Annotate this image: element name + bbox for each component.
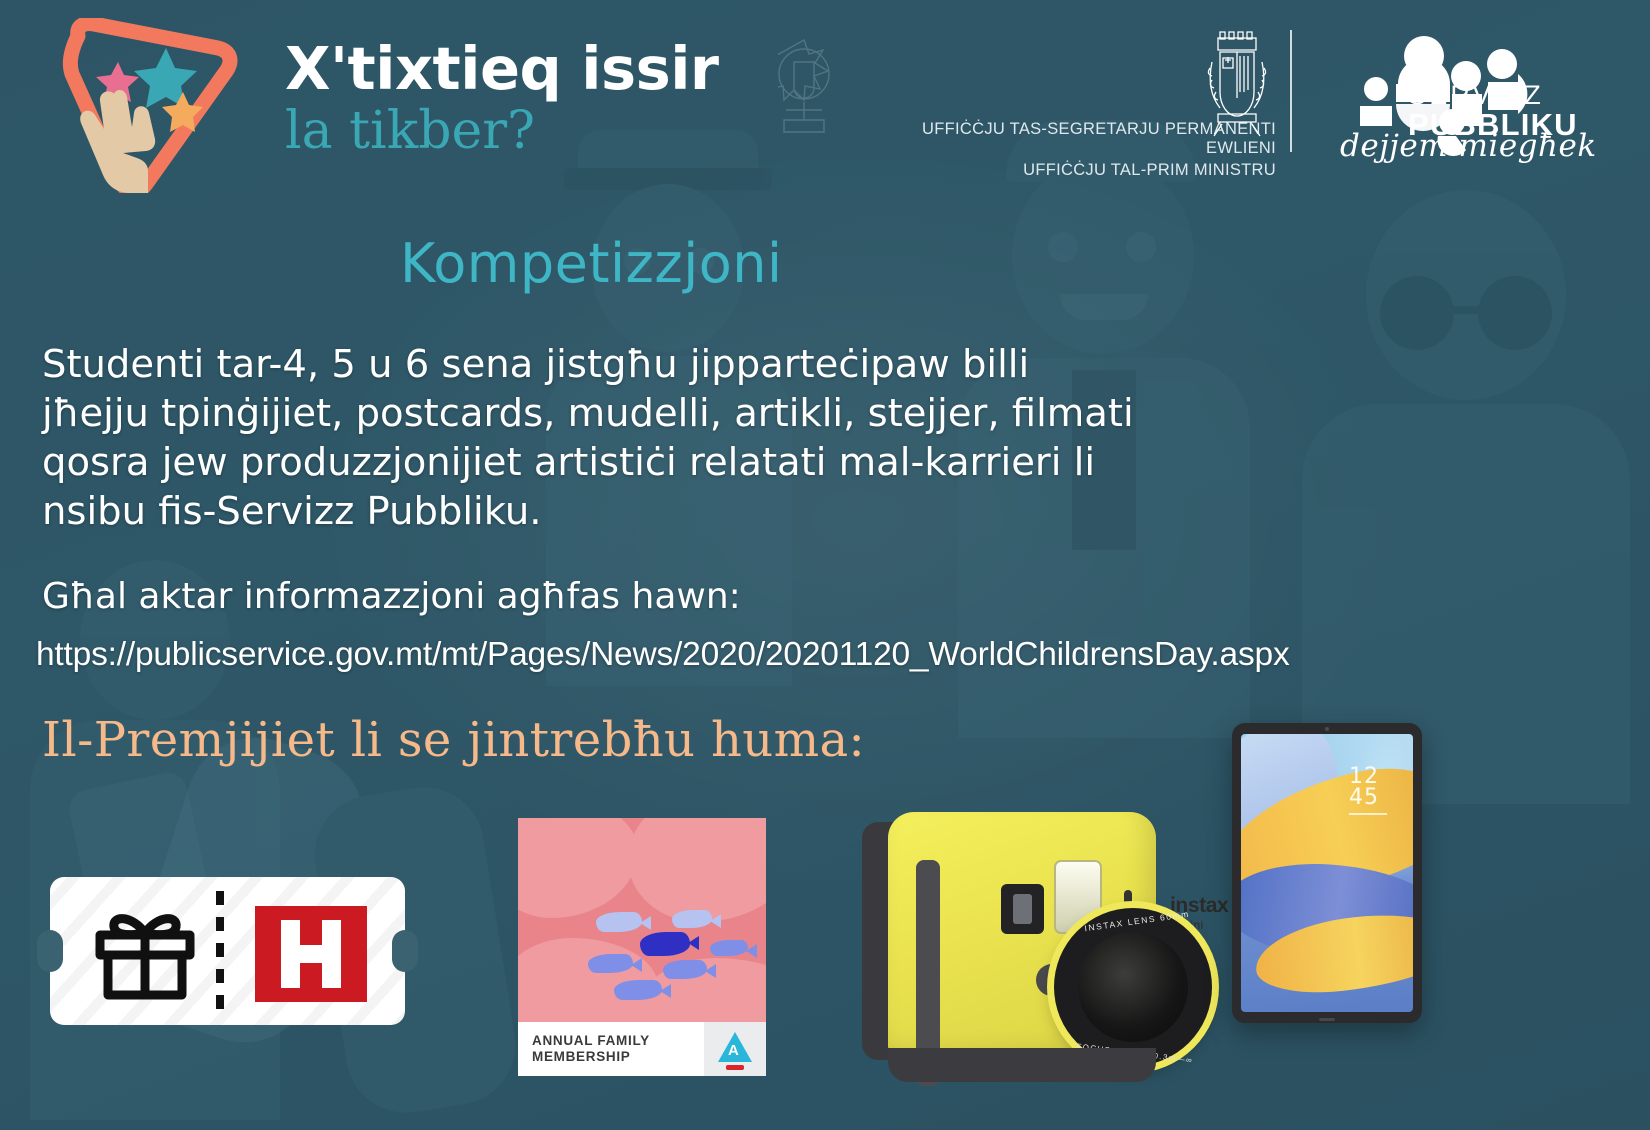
- poster-canvas: X'tixtieq issir la tikber? UFFIĊĊJU TAS-…: [0, 0, 1650, 1130]
- voucher-perforation: [216, 891, 224, 1011]
- aquarium-card-footer: ANNUAL FAMILY MEMBERSHIP A: [518, 1022, 766, 1076]
- prizes-heading: Il-Premjijiet li se jintrebħu huma:: [42, 712, 865, 768]
- servizz-word: SERVIZZ: [1408, 82, 1578, 109]
- tablet-home-indicator: [1319, 1018, 1335, 1021]
- tablet-lockscreen-clock: 12 45: [1349, 766, 1387, 815]
- voucher-brand-logo-icon: [255, 906, 367, 1002]
- prize-aquarium-membership: ANNUAL FAMILY MEMBERSHIP A: [518, 818, 766, 1076]
- aquarium-label-line2: MEMBERSHIP: [532, 1049, 704, 1065]
- campaign-title-line2: la tikber?: [285, 102, 719, 162]
- camera-lens-glass: [1078, 932, 1188, 1042]
- malta-coat-of-arms-icon: [1198, 28, 1276, 146]
- tablet-clock-minute: 45: [1349, 787, 1387, 808]
- section-title: Kompetizzjoni: [400, 232, 783, 295]
- tablet-clock-underline: [1349, 813, 1387, 815]
- info-url-link[interactable]: https://publicservice.gov.mt/mt/Pages/Ne…: [36, 636, 1290, 674]
- opm-line-2: UFFIĊĊJU TAL-PRIM MINISTRU: [886, 161, 1276, 180]
- camera-lens: INSTAX LENS 60mm FOCUS RANGE 0.3m—∞: [1054, 908, 1212, 1066]
- camera-viewfinder: [1001, 884, 1044, 934]
- camera-base: [888, 1048, 1156, 1082]
- gift-box-icon: [90, 905, 200, 1001]
- servizz-pubbliku-tagline: dejjem miegħek: [1340, 128, 1597, 164]
- camera-sensor: [1124, 890, 1132, 908]
- more-info-label: Għal aktar informazzjoni agħfas hawn:: [42, 576, 741, 617]
- campaign-title: X'tixtieq issir la tikber?: [285, 38, 719, 162]
- tablet-screen: 12 45: [1241, 734, 1413, 1012]
- prize-gift-voucher: [50, 877, 405, 1025]
- campaign-title-line1: X'tixtieq issir: [285, 38, 719, 100]
- aquarium-membership-label: ANNUAL FAMILY MEMBERSHIP: [518, 1022, 704, 1076]
- aquarium-logo-icon: A: [704, 1022, 766, 1076]
- header-divider: [1290, 30, 1292, 152]
- tablet-clock-hour: 12: [1349, 766, 1387, 787]
- aquarium-label-line1: ANNUAL FAMILY: [532, 1033, 704, 1049]
- campaign-logo-icon: [50, 18, 250, 193]
- tablet-front-camera-icon: [1325, 727, 1329, 731]
- prize-tablet: 12 45: [1232, 723, 1422, 1023]
- competition-description: Studenti tar-4, 5 u 6 sena jistgħu jippa…: [42, 340, 1142, 536]
- police-crest-icon: [778, 32, 830, 142]
- aquarium-badge-letter: A: [728, 1042, 739, 1059]
- poster-header: X'tixtieq issir la tikber? UFFIĊĊJU TAS-…: [0, 0, 1650, 200]
- aquarium-card-artwork: [518, 818, 766, 1022]
- prize-instax-camera: instax mini 70 INSTAX LENS 60mm FOCUS RA…: [862, 780, 1178, 1080]
